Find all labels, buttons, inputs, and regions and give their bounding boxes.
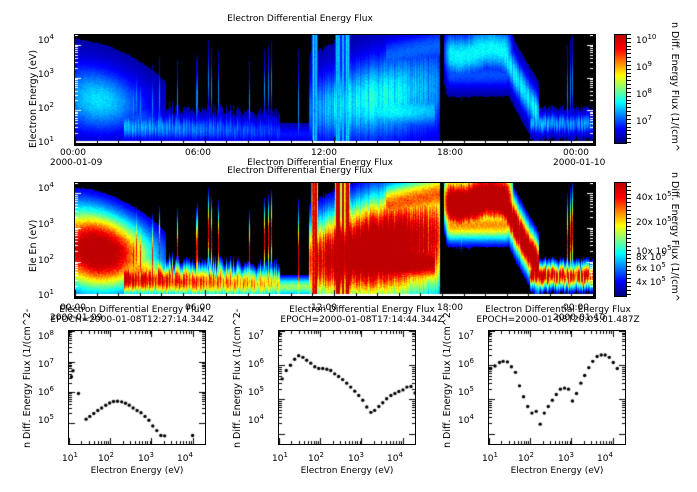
tick-mark (627, 49, 631, 50)
spectrum-2-ytick-3: 104 (458, 413, 474, 426)
tick-mark (627, 73, 631, 74)
panel1-spectrogram[interactable] (74, 34, 596, 146)
spectrum-1-xtick-0: 101 (272, 451, 288, 464)
spectrum-1-xtick-2: 103 (348, 451, 364, 464)
tick-mark (627, 258, 631, 259)
panel2-ytick-1-exp: 3 (49, 217, 53, 225)
spectrum-1-xtick-1: 102 (308, 451, 324, 464)
spectrum-1-xtick-1-exp: 2 (319, 451, 323, 459)
tick-mark (627, 138, 631, 139)
spectrum-2-ytick-2: 105 (458, 385, 474, 398)
tick-mark (627, 115, 631, 116)
tick-mark (627, 69, 631, 70)
spectrum-0-xtick-2-exp: 3 (149, 451, 153, 459)
panel1-cbtick-2-exp: 8 (647, 87, 651, 95)
spectrum-1-xlabel: Electron Energy (eV) (272, 466, 422, 476)
panel1-ytick-1-exp: 3 (49, 67, 53, 75)
spectrum-2-title: Electron Differential Energy Flux (458, 305, 658, 315)
panel1-ylabel: Electron Energy (eV) (28, 50, 39, 148)
spectrum-2-xtick-0-mantissa: 10 (482, 454, 493, 464)
panel1-cbtick-2-mantissa: 10 (636, 90, 647, 100)
tick-mark (627, 100, 631, 101)
panel2-cbtick-0-mantissa: 40x 10 (636, 193, 667, 203)
spectrum-0-ytick-2-mantissa: 10 (38, 388, 49, 398)
spectrum-2-xtick-1-exp: 2 (529, 451, 533, 459)
panel2-cbtick-3-exp: 5 (661, 250, 665, 258)
spectrum-0-ytick-1-exp: 7 (49, 357, 53, 365)
spectrum-1-xtick-2-mantissa: 10 (348, 454, 359, 464)
panel2-cbtick-5-exp: 5 (661, 275, 665, 283)
panel2-cbtick-1: 20x 105 (636, 215, 672, 228)
tick-mark (627, 65, 631, 66)
tick-mark (627, 250, 631, 251)
spectrum-1-xtick-1-mantissa: 10 (308, 454, 319, 464)
panel1-ytick-1: 103 (38, 67, 54, 80)
spectrum-2-ytick-2-exp: 5 (469, 385, 473, 393)
spectrum-2-ylabel: n Diff. Energy Flux (1/(cm^2- (442, 309, 453, 448)
spectrum-2-subtitle: EPOCH=2000-01-08T20:05:01.487Z (448, 315, 668, 325)
spectrum-0-ytick-1-mantissa: 10 (38, 360, 49, 370)
tick-mark (627, 127, 631, 128)
panel2-ytick-3: 101 (38, 288, 54, 301)
tick-mark (627, 214, 631, 215)
spectrum-2-xtick-1: 102 (518, 451, 534, 464)
panel1-colorbar-label: n Diff. Energy Flux (1/(cm^ (669, 22, 680, 152)
panel1-cblabel-wrap: n Diff. Energy Flux (1/(cm^ (680, 22, 697, 33)
spectrum-0-ytick-1: 107 (38, 357, 54, 370)
panel1-ytick-0: 104 (38, 33, 54, 46)
panel1-cbtick-3: 107 (636, 114, 652, 127)
panel1-cbtick-1-exp: 9 (647, 60, 651, 68)
spectrum-1-xtick-0-mantissa: 10 (272, 454, 283, 464)
panel1-cbtick-3-mantissa: 10 (636, 117, 647, 127)
spectrum-1-ytick-1-mantissa: 10 (248, 360, 259, 370)
panel1-cbtick-3-exp: 7 (647, 114, 651, 122)
panel2-cbtick-4-mantissa: 6x 10 (636, 264, 661, 274)
tick-mark (627, 294, 631, 295)
spectrum-0-xtick-0-exp: 1 (73, 451, 77, 459)
spectrum-2-xlabel: Electron Energy (eV) (482, 466, 632, 476)
spectrum-0-xtick-2-mantissa: 10 (138, 454, 149, 464)
tick-mark (627, 111, 631, 112)
spectrum-1-ytick-3: 104 (248, 413, 264, 426)
spectrum-1-ytick-0: 107 (248, 329, 264, 342)
spectrum-2-plot[interactable] (488, 330, 626, 445)
panel2-cbtick-1-mantissa: 20x 10 (636, 218, 667, 228)
panel2-title: Electron Differential Energy Flux (0, 166, 600, 176)
panel1-xtick-1: 06:00 (185, 148, 211, 158)
spectrum-1-ytick-0-exp: 7 (259, 329, 263, 337)
panel2-ytick-2-exp: 2 (49, 253, 53, 261)
panel1-ytick-2-exp: 2 (49, 101, 53, 109)
panel2-cbtick-0: 40x 105 (636, 190, 672, 203)
spectrum-0-xtick-0-mantissa: 10 (62, 454, 73, 464)
tick-mark (627, 282, 631, 283)
tick-mark (627, 262, 631, 263)
tick-mark (627, 88, 631, 89)
spectrum-1-plot[interactable] (278, 330, 416, 445)
spectrum-0-xtick-1-mantissa: 10 (98, 454, 109, 464)
spectrum-2-xtick-1-mantissa: 10 (518, 454, 529, 464)
spectrum-2-ytick-1-mantissa: 10 (458, 360, 469, 370)
tick-mark (627, 42, 631, 43)
spectrum-0-ytick-2-exp: 6 (49, 385, 53, 393)
spectrum-2-ytick-0-exp: 7 (469, 329, 473, 337)
tick-mark (627, 230, 631, 231)
tick-mark (627, 234, 631, 235)
spectrum-1-ytick-2-mantissa: 10 (248, 388, 259, 398)
spectrum-0-xtick-3-exp: 4 (188, 451, 192, 459)
panel2-spectrogram[interactable] (74, 182, 596, 299)
tick-mark (627, 226, 631, 227)
spectrum-1-ylabel: n Diff. Energy Flux (1/(cm^2- (232, 309, 243, 448)
panel2-ylabel-wrap: Ele En (eV) (28, 272, 80, 283)
spectrum-0-ytick-0-mantissa: 10 (38, 332, 49, 342)
tick-mark (627, 61, 631, 62)
spectrum-2-xtick-2-mantissa: 10 (558, 454, 569, 464)
spectrum-0-title: Electron Differential Energy Flux (32, 305, 232, 315)
tick-mark (627, 80, 631, 81)
panel1-ytick-1-mantissa: 10 (38, 70, 49, 80)
tick-mark (627, 194, 631, 195)
spectrum-0-ytick-2: 106 (38, 385, 54, 398)
tick-mark (627, 254, 631, 255)
panel1-cbtick-0-mantissa: 10 (636, 36, 647, 46)
spectrum-1-ytick-2-exp: 5 (259, 385, 263, 393)
panel1-ytick-3: 101 (38, 135, 54, 148)
tick-mark (627, 242, 631, 243)
spectrum-1-ytick-0-mantissa: 10 (248, 332, 259, 342)
tick-mark (627, 57, 631, 58)
panel2-ytick-0-mantissa: 10 (38, 184, 49, 194)
tick-mark (627, 96, 631, 97)
tick-mark (627, 76, 631, 77)
panel1-cbtick-0-exp: 10 (647, 33, 656, 41)
spectrum-0-ytick-3-mantissa: 10 (38, 416, 49, 426)
tick-mark (627, 46, 631, 47)
panel1-ytick-2-mantissa: 10 (38, 104, 49, 114)
spectrum-1-xtick-2-exp: 3 (359, 451, 363, 459)
spectrum-2-ytick-0: 107 (458, 329, 474, 342)
panel1-ytick-0-mantissa: 10 (38, 36, 49, 46)
spectrum-0-ytick-0: 108 (38, 329, 54, 342)
panel2-colorbar[interactable] (614, 182, 627, 297)
panel2-cblabel-wrap: n Diff. Energy Flux (1/(cm^ (680, 172, 697, 183)
tick-mark (627, 134, 631, 135)
spectrum-2-xtick-0: 101 (482, 451, 498, 464)
panel2-colorbar-label: n Diff. Energy Flux (1/(cm^ (669, 172, 680, 302)
tick-mark (627, 190, 631, 191)
panel1-xtick-2: 12:00 (311, 148, 337, 158)
panel2-ytick-3-exp: 1 (49, 288, 53, 296)
spectrum-1-xtick-3-exp: 4 (398, 451, 402, 459)
tick-mark (627, 103, 631, 104)
panel1-cbtick-0: 1010 (636, 33, 656, 46)
spectrum-1-ytick-1-exp: 6 (259, 357, 263, 365)
panel1-colorbar[interactable] (614, 34, 627, 144)
spectrum-1-ytick-3-exp: 4 (259, 413, 263, 421)
tick-mark (627, 290, 631, 291)
tick-mark (627, 142, 631, 143)
spectrum-2-xtick-2: 103 (558, 451, 574, 464)
panel1-ytick-0-exp: 4 (49, 33, 53, 41)
tick-mark (627, 92, 631, 93)
tick-mark (627, 123, 631, 124)
tick-mark (627, 206, 631, 207)
spectrum-1-xtick-3-mantissa: 10 (387, 454, 398, 464)
panel2-ytick-0-exp: 4 (49, 181, 53, 189)
spectrum-0-xtick-2: 103 (138, 451, 154, 464)
panel2-cbtick-4-exp: 5 (661, 261, 665, 269)
tick-mark (627, 34, 631, 35)
panel1-xtick-4: 00:00 (563, 148, 589, 158)
spectrum-2-ytick-3-mantissa: 10 (458, 416, 469, 426)
panel2-ytick-1: 103 (38, 217, 54, 230)
tick-mark (627, 198, 631, 199)
spectrum-2-ytick-2-mantissa: 10 (458, 388, 469, 398)
panel2-ytick-3-mantissa: 10 (38, 291, 49, 301)
panel2-cbtick-5-mantissa: 4x 10 (636, 278, 661, 288)
tick-mark (627, 286, 631, 287)
panel1-ytick-2: 102 (38, 101, 54, 114)
panel2-ytick-2-mantissa: 10 (38, 256, 49, 266)
panel1-ytick-3-mantissa: 10 (38, 138, 49, 148)
spectrum-0-xtick-1-exp: 2 (109, 451, 113, 459)
tick-mark (627, 186, 631, 187)
panel1-xtick-0: 00:00 (60, 148, 86, 158)
spectrum-0-ylabel: n Diff. Energy Flux (1/(cm^2- (22, 309, 33, 448)
panel1-title: Electron Differential Energy Flux (0, 14, 600, 24)
spectrum-2-ytick-1: 106 (458, 357, 474, 370)
tick-mark (627, 182, 631, 183)
tick-mark (627, 119, 631, 120)
spectrum-0-xtick-3-mantissa: 10 (177, 454, 188, 464)
spectrum-0-xtick-1: 102 (98, 451, 114, 464)
spectrum-0-xlabel: Electron Energy (eV) (62, 466, 212, 476)
spectrum-2-ytick-3-exp: 4 (469, 413, 473, 421)
tick-mark (627, 130, 631, 131)
spectrum-2-xtick-2-exp: 3 (569, 451, 573, 459)
spectrum-0-xtick-0: 101 (62, 451, 78, 464)
spectrum-2-ytick-0-mantissa: 10 (458, 332, 469, 342)
tick-mark (627, 218, 631, 219)
panel1-cbtick-1: 109 (636, 60, 652, 73)
panel1-xtick-3: 18:00 (437, 148, 463, 158)
tick-mark (627, 266, 631, 267)
panel2-cbtick-4: 6x 105 (636, 261, 666, 274)
spectrum-0-ytick-3-exp: 5 (49, 413, 53, 421)
spectrum-0-ytick-3: 105 (38, 413, 54, 426)
spectrum-2-xtick-0-exp: 1 (493, 451, 497, 459)
spectrum-0-xtick-3: 104 (177, 451, 193, 464)
spectrum-2-xtick-3-exp: 4 (608, 451, 612, 459)
tick-mark (627, 246, 631, 247)
tick-mark (627, 107, 631, 108)
spectrum-0-subtitle: EPOCH=2000-01-08T12:27:14.344Z (22, 315, 242, 325)
tick-mark (627, 278, 631, 279)
panel2-cbtick-5: 4x 105 (636, 275, 666, 288)
spectrum-1-subtitle: EPOCH=2000-01-08T17:14:44.344Z (252, 315, 472, 325)
spectrum-2-xtick-3: 104 (597, 451, 613, 464)
spectrum-1-xtick-0-exp: 1 (283, 451, 287, 459)
tick-mark (627, 84, 631, 85)
panel1-ytick-3-exp: 1 (49, 135, 53, 143)
spectrum-1-ytick-2: 105 (248, 385, 264, 398)
panel2-ytick-1-mantissa: 10 (38, 220, 49, 230)
spectrum-0-ytick-0-exp: 8 (49, 329, 53, 337)
panel1-cbtick-1-mantissa: 10 (636, 63, 647, 73)
tick-mark (627, 274, 631, 275)
tick-mark (627, 238, 631, 239)
tick-mark (627, 202, 631, 203)
spectrum-1-ytick-1: 106 (248, 357, 264, 370)
tick-mark (627, 38, 631, 39)
panel1-cbtick-2: 108 (636, 87, 652, 100)
tick-mark (627, 210, 631, 211)
tick-mark (627, 270, 631, 271)
spectrum-0-plot[interactable] (68, 330, 206, 445)
spectrum-2-xtick-3-mantissa: 10 (597, 454, 608, 464)
spectrum-1-xtick-3: 104 (387, 451, 403, 464)
panel2-ytick-0: 104 (38, 181, 54, 194)
spectrum-1-ytick-3-mantissa: 10 (248, 416, 259, 426)
spectrum-2-ytick-1-exp: 6 (469, 357, 473, 365)
panel2-ytick-2: 102 (38, 253, 54, 266)
tick-mark (627, 53, 631, 54)
tick-mark (627, 222, 631, 223)
spectrum-1-title: Electron Differential Energy Flux (262, 305, 462, 315)
